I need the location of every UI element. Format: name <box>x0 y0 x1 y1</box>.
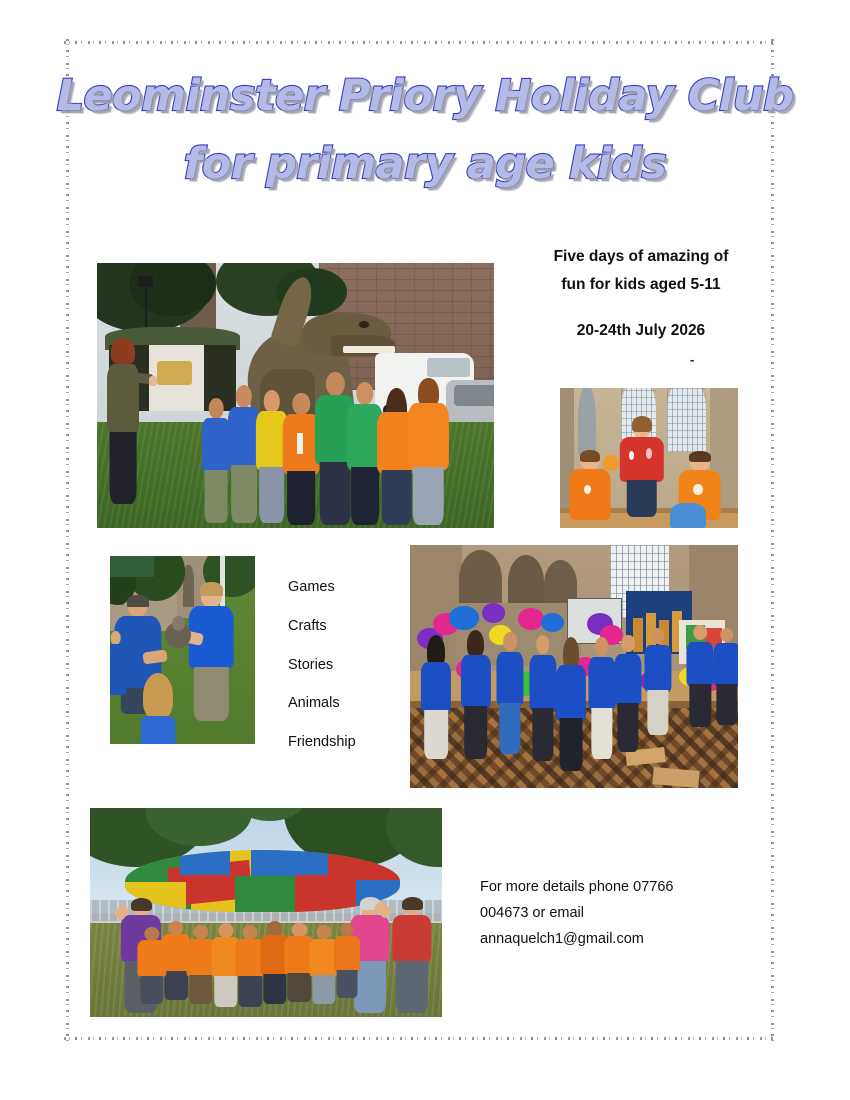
contact-line-2: 004673 or email <box>480 900 730 926</box>
photo-dinosaur <box>97 263 494 528</box>
photo-animals <box>110 556 255 744</box>
activity-item-animals: Animals <box>288 684 408 723</box>
info-headline-line-1: Five days of amazing of <box>516 243 766 271</box>
title-line-1: Leominster Priory Holiday Club <box>0 62 850 130</box>
activity-item-friendship: Friendship <box>288 723 408 762</box>
title-line-2: for primary age kids <box>0 130 850 198</box>
border-edge-top <box>64 39 776 46</box>
activities-list: Games Crafts Stories Animals Friendship <box>288 568 408 762</box>
contact-email: annaquelch1@gmail.com <box>480 926 730 952</box>
activity-item-crafts: Crafts <box>288 607 408 646</box>
contact-details: For more details phone 07766 004673 or e… <box>480 874 730 952</box>
stray-dash-mark: - <box>690 355 702 365</box>
info-headline: Five days of amazing of fun for kids age… <box>516 243 766 299</box>
photo-parachute <box>90 808 442 1017</box>
photo-church-leader <box>560 388 738 528</box>
border-edge-bottom <box>64 1035 776 1042</box>
poster-page: Leominster Priory Holiday Club for prima… <box>0 0 850 1100</box>
info-headline-line-2: fun for kids aged 5-11 <box>516 271 766 299</box>
poster-title: Leominster Priory Holiday Club for prima… <box>0 62 850 198</box>
contact-line-1: For more details phone 07766 <box>480 874 730 900</box>
info-dates: 20-24th July 2026 <box>516 322 766 340</box>
activity-item-stories: Stories <box>288 646 408 685</box>
photo-pompom-dance <box>410 545 738 788</box>
activity-item-games: Games <box>288 568 408 607</box>
